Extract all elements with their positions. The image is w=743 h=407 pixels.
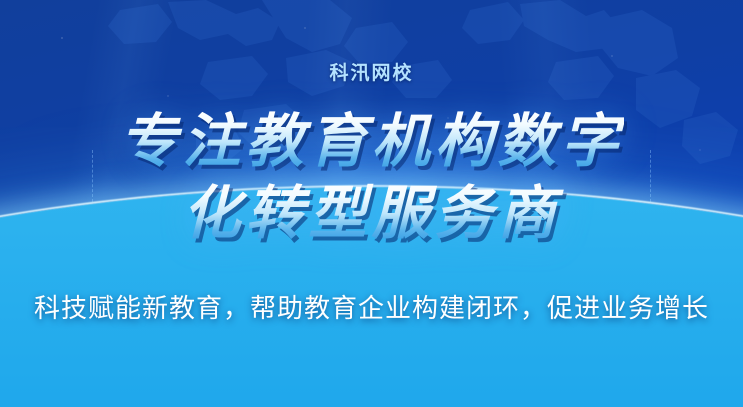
headline: 专注教育机构数字 化转型服务商 <box>119 109 623 246</box>
headline-line-2: 化转型服务商 <box>119 181 623 247</box>
banner-content: 科汛网校 专注教育机构数字 化转型服务商 <box>0 0 743 407</box>
headline-line-1: 专注教育机构数字 <box>119 109 623 175</box>
promo-banner: 科汛网校 专注教育机构数字 化转型服务商 科技赋能新教育，帮助教育企业构建闭环，… <box>0 0 743 407</box>
brand-name: 科汛网校 <box>329 58 413 85</box>
